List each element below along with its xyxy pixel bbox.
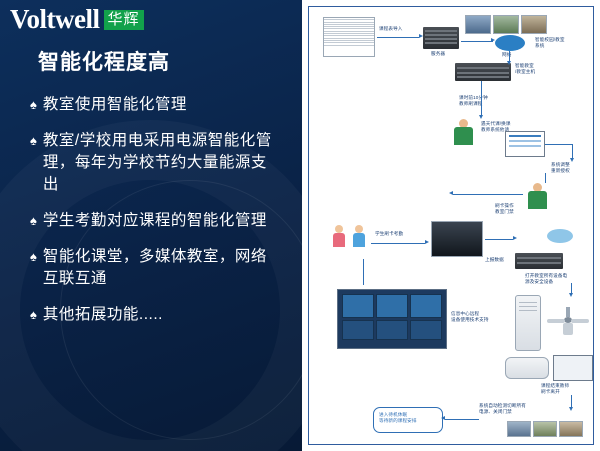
list-item: ♠ 学生考勤对应课程的智能化管理 bbox=[30, 210, 280, 232]
label-upload-data: 上报数据 bbox=[485, 257, 519, 263]
label-student-attendance: 学生刷卡考勤 bbox=[375, 231, 423, 237]
arrowhead-icon bbox=[449, 191, 453, 195]
slide-root: Voltwell 华辉 智能化程度高 ♠ 教室使用智能化管理 ♠ 教室/学校用电… bbox=[0, 0, 600, 451]
classroom-photo-1 bbox=[465, 15, 491, 34]
device-thumb-3 bbox=[559, 421, 583, 437]
schedule-table-image bbox=[323, 17, 375, 57]
label-sign-in: 课时前10分钟 教师刷课程 bbox=[459, 95, 515, 107]
arrowhead-icon bbox=[479, 115, 483, 119]
label-smart-classroom-device: 智能教室 /教室主机 bbox=[515, 63, 555, 75]
classroom-cloud-icon bbox=[547, 229, 573, 243]
list-item-label: 教室/学校用电采用电源智能化管理，每年为学校节约大量能源支出 bbox=[43, 130, 280, 196]
whiteboard-image bbox=[553, 355, 593, 381]
page-title: 智能化程度高 bbox=[38, 46, 170, 76]
list-item: ♠ 教室使用智能化管理 bbox=[30, 94, 280, 116]
air-conditioner-image bbox=[515, 295, 541, 351]
list-item-label: 学生考勤对应课程的智能化管理 bbox=[43, 210, 267, 232]
server-image bbox=[423, 27, 459, 49]
arrow-shutdown-to-standby bbox=[445, 419, 479, 420]
right-diagram-panel: 课程表导入 服务器 网络 智能校园/教室 系统 bbox=[302, 0, 600, 451]
ceiling-fan-image bbox=[547, 307, 589, 337]
application-monitor-image bbox=[505, 131, 545, 157]
arrowhead-icon bbox=[425, 240, 429, 244]
smart-classroom-host-image bbox=[455, 63, 511, 81]
label-system-update: 系统调整 重新授权 bbox=[551, 162, 591, 174]
power-control-unit-image bbox=[515, 253, 563, 269]
label-teacher-leave: 课程结束教师 刷卡离开 bbox=[541, 383, 589, 395]
network-cloud-icon bbox=[495, 35, 525, 51]
arrow-monitor-to-update bbox=[545, 144, 573, 145]
arrow-return-left bbox=[363, 259, 364, 285]
arrow-door-left bbox=[453, 194, 523, 195]
list-item: ♠ 其他拓展功能..... bbox=[30, 304, 280, 326]
list-item-label: 教室使用智能化管理 bbox=[43, 94, 187, 116]
teacher-avatar-body bbox=[454, 127, 473, 145]
arrow-terminal-to-host bbox=[485, 239, 513, 240]
system-flow-diagram: 课程表导入 服务器 网络 智能校园/教室 系统 bbox=[308, 6, 594, 445]
brand-logo: Voltwell 华辉 bbox=[10, 6, 144, 33]
bullet-marker-icon: ♠ bbox=[30, 246, 37, 268]
classroom-photo-3 bbox=[521, 15, 547, 34]
arrow-host-to-teacher bbox=[481, 81, 482, 117]
arrow-update-to-teacher2 bbox=[545, 173, 546, 183]
arrowhead-icon bbox=[441, 416, 445, 420]
bullet-list: ♠ 教室使用智能化管理 ♠ 教室/学校用电采用电源智能化管理，每年为学校节约大量… bbox=[30, 94, 280, 340]
device-thumb-2 bbox=[533, 421, 557, 437]
monitoring-videowall-image bbox=[337, 289, 447, 349]
bullet-marker-icon: ♠ bbox=[30, 210, 37, 232]
bullet-marker-icon: ♠ bbox=[30, 130, 37, 152]
arrow-server-to-cloud bbox=[461, 41, 493, 42]
label-auto-shutdown: 系统自动检测切断所有 电源、关闭门禁 bbox=[479, 403, 559, 415]
device-thumb-1 bbox=[507, 421, 531, 437]
arrow-students-to-terminal bbox=[371, 243, 425, 244]
bullet-marker-icon: ♠ bbox=[30, 304, 37, 326]
list-item: ♠ 智能化课堂，多媒体教室，网络互联互通 bbox=[30, 246, 280, 290]
attendance-terminal-image bbox=[431, 221, 483, 257]
arrowhead-icon bbox=[569, 407, 573, 411]
arrowhead-icon bbox=[491, 38, 495, 42]
label-card-door: 刷卡操作 教室门禁 bbox=[495, 203, 533, 215]
label-standby: 进入待机休眠 等待新的课程安排 bbox=[379, 412, 439, 424]
arrowhead-icon bbox=[507, 61, 511, 65]
projector-image bbox=[505, 357, 549, 379]
student-kid-2 bbox=[351, 225, 367, 251]
student-kid-1 bbox=[331, 225, 347, 251]
list-item: ♠ 教室/学校用电采用电源智能化管理，每年为学校节约大量能源支出 bbox=[30, 130, 280, 196]
arrowhead-icon bbox=[570, 158, 574, 162]
brand-logo-chinese: 华辉 bbox=[104, 10, 144, 30]
label-smart-campus: 智能校园/教室 系统 bbox=[535, 37, 587, 49]
bullet-marker-icon: ♠ bbox=[30, 94, 37, 116]
classroom-photo-2 bbox=[493, 15, 519, 34]
arrow-schedule-to-server bbox=[377, 37, 419, 38]
list-item-label: 智能化课堂，多媒体教室，网络互联互通 bbox=[43, 246, 280, 290]
label-schedule-import: 课程表导入 bbox=[379, 26, 419, 32]
label-open-power: 打开教室所有设备电 源及安全设备 bbox=[525, 273, 587, 285]
arrowhead-icon bbox=[513, 236, 517, 240]
list-item-label: 其他拓展功能..... bbox=[43, 304, 163, 326]
label-server: 服务器 bbox=[431, 51, 445, 57]
brand-logo-latin: Voltwell bbox=[10, 6, 100, 33]
left-content-panel: Voltwell 华辉 智能化程度高 ♠ 教室使用智能化管理 ♠ 教室/学校用电… bbox=[0, 0, 302, 451]
arrowhead-icon bbox=[569, 293, 573, 297]
label-info-center: 信息中心远程 设备使用技术支持 bbox=[451, 311, 513, 323]
